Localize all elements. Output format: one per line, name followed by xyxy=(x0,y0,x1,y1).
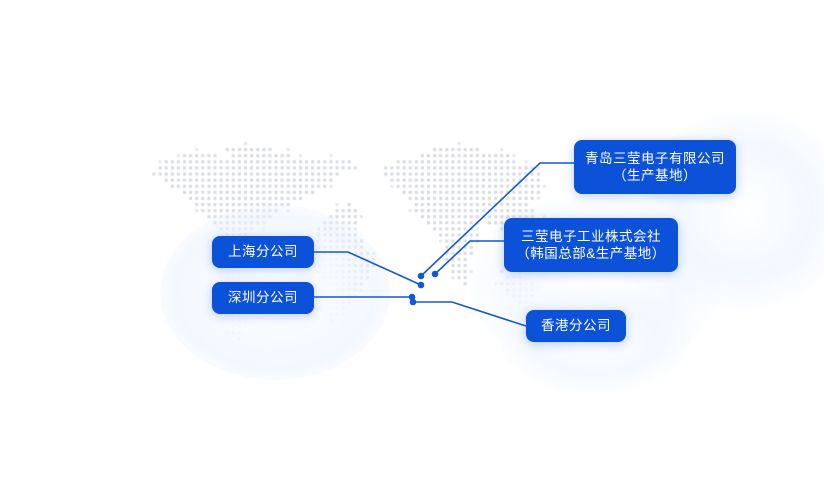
connector-lines-group xyxy=(0,0,824,480)
label-korea[interactable]: 三莹电子工业株式会社 （韩国总部&生产基地） xyxy=(504,218,678,272)
label-qingdao-line1: 青岛三莹电子有限公司 xyxy=(585,150,725,167)
label-shenzhen-line1: 深圳分公司 xyxy=(228,289,298,306)
korea-connector xyxy=(435,241,504,274)
label-korea-line1: 三莹电子工业株式会社 xyxy=(521,228,661,245)
hongkong-connector xyxy=(413,302,526,326)
label-qingdao[interactable]: 青岛三莹电子有限公司 （生产基地） xyxy=(574,140,736,194)
label-korea-line2: （韩国总部&生产基地） xyxy=(516,245,666,262)
world-map-locations-figure: 青岛三莹电子有限公司 （生产基地） 三莹电子工业株式会社 （韩国总部&生产基地）… xyxy=(0,0,824,480)
label-qingdao-line2: （生产基地） xyxy=(613,167,697,184)
label-hongkong[interactable]: 香港分公司 xyxy=(526,310,626,342)
shanghai-marker[interactable] xyxy=(418,282,425,289)
label-shanghai-line1: 上海分公司 xyxy=(228,243,298,260)
korea-marker[interactable] xyxy=(432,271,439,278)
shanghai-connector xyxy=(314,252,421,285)
qingdao-marker[interactable] xyxy=(418,273,425,280)
label-shanghai[interactable]: 上海分公司 xyxy=(212,236,314,268)
label-shenzhen[interactable]: 深圳分公司 xyxy=(212,282,314,314)
label-hongkong-line1: 香港分公司 xyxy=(541,317,611,334)
hongkong-marker[interactable] xyxy=(410,299,417,306)
